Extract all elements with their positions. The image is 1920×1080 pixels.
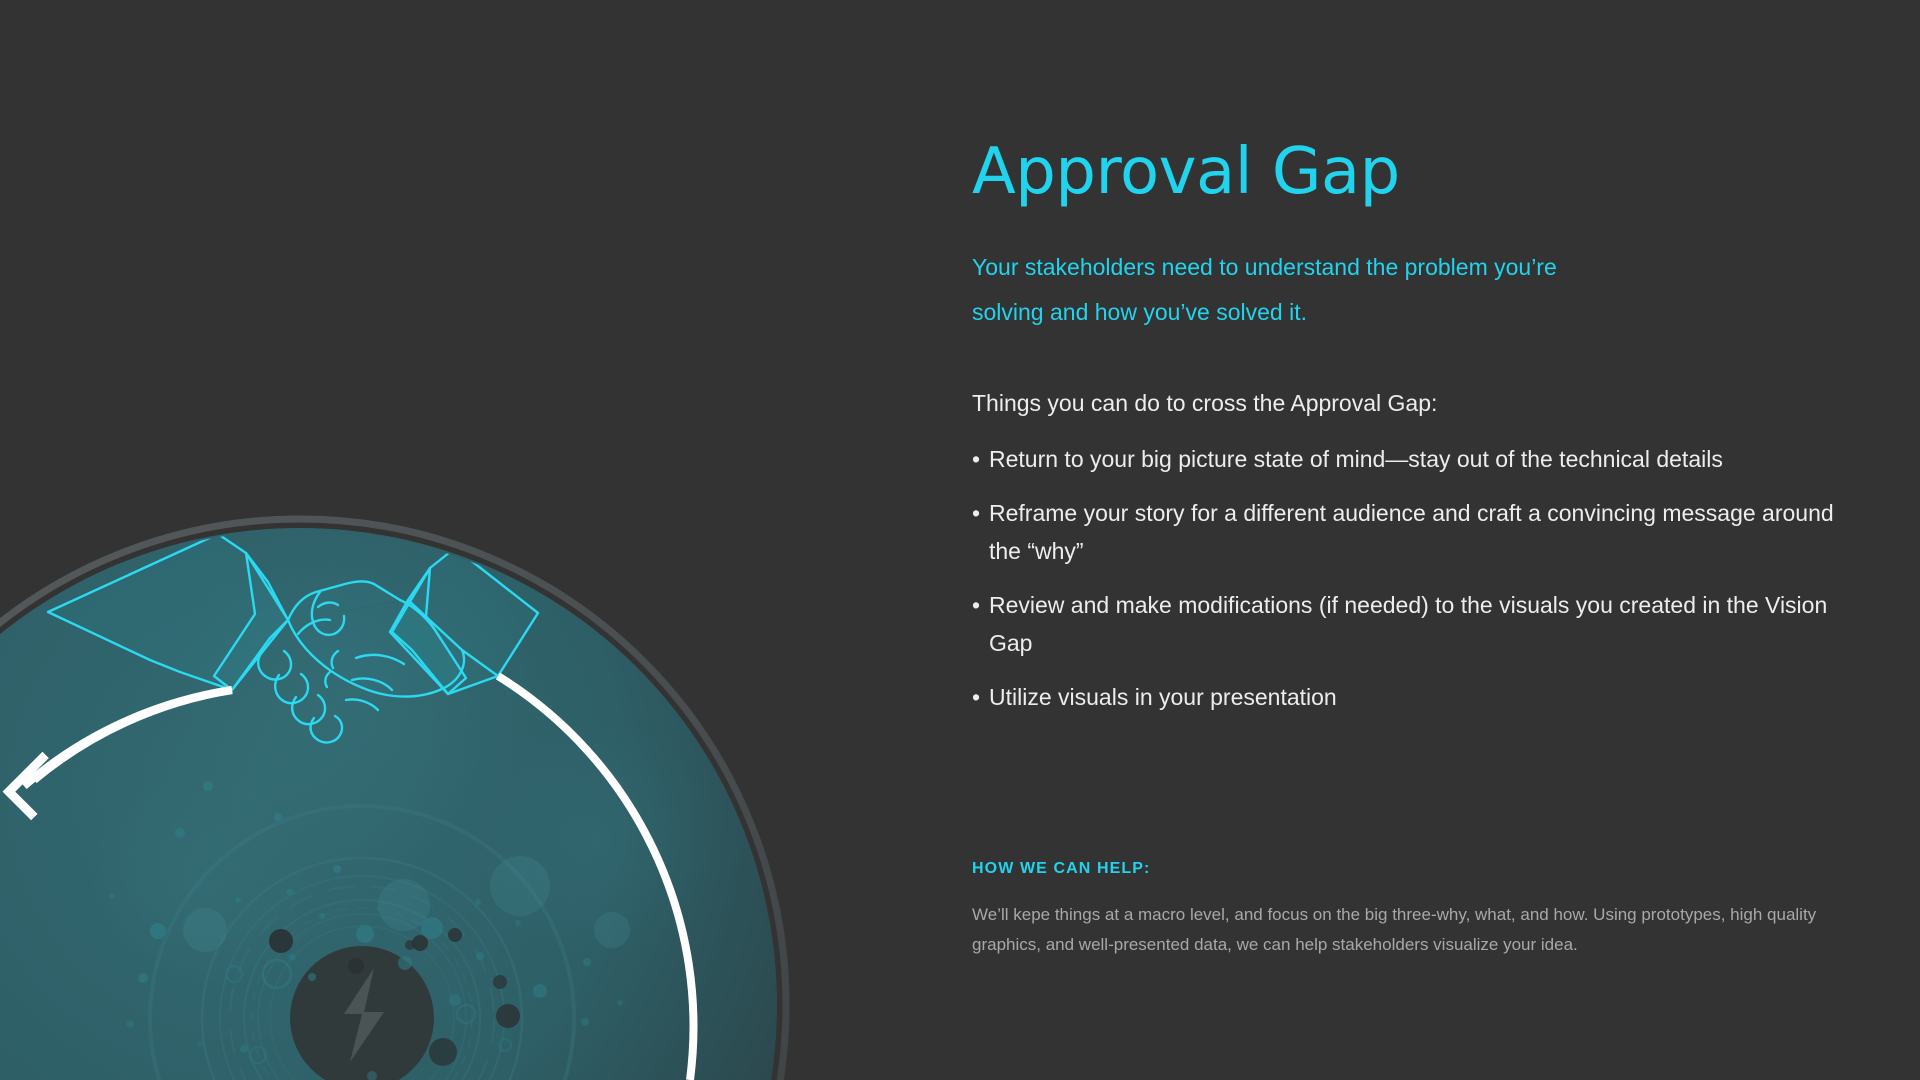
bullet-marker: • bbox=[972, 678, 980, 716]
page-title: Approval Gap bbox=[972, 140, 1400, 204]
subtitle-line-2: solving and how you’ve solved it. bbox=[972, 290, 1612, 335]
list-item: • Return to your big picture state of mi… bbox=[972, 440, 1852, 478]
list-item-label: Return to your big picture state of mind… bbox=[989, 446, 1723, 472]
list-item-label: Review and make modifications (if needed… bbox=[989, 592, 1827, 656]
handshake-circle-illustration bbox=[0, 0, 980, 1080]
how-we-can-help-heading: HOW WE CAN HELP: bbox=[972, 860, 1832, 878]
list-item: • Review and make modifications (if need… bbox=[972, 586, 1852, 662]
bullet-marker: • bbox=[972, 494, 980, 532]
lede-text: Things you can do to cross the Approval … bbox=[972, 388, 1437, 418]
slide-root: Approval Gap Your stakeholders need to u… bbox=[0, 0, 1920, 1080]
subtitle-line-1: Your stakeholders need to understand the… bbox=[972, 245, 1612, 290]
how-we-can-help-body: We’ll kepe things at a macro level, and … bbox=[972, 900, 1832, 960]
list-item-label: Reframe your story for a different audie… bbox=[989, 500, 1834, 564]
content-column: Approval Gap Your stakeholders need to u… bbox=[972, 0, 1920, 1080]
page-subtitle: Your stakeholders need to understand the… bbox=[972, 245, 1612, 335]
bullet-marker: • bbox=[972, 440, 980, 478]
list-item-label: Utilize visuals in your presentation bbox=[989, 684, 1337, 710]
list-item: • Utilize visuals in your presentation bbox=[972, 678, 1852, 716]
bullet-marker: • bbox=[972, 586, 980, 624]
list-item: • Reframe your story for a different aud… bbox=[972, 494, 1852, 570]
action-bullet-list: • Return to your big picture state of mi… bbox=[972, 440, 1852, 732]
how-we-can-help-block: HOW WE CAN HELP: We’ll kepe things at a … bbox=[972, 860, 1832, 960]
